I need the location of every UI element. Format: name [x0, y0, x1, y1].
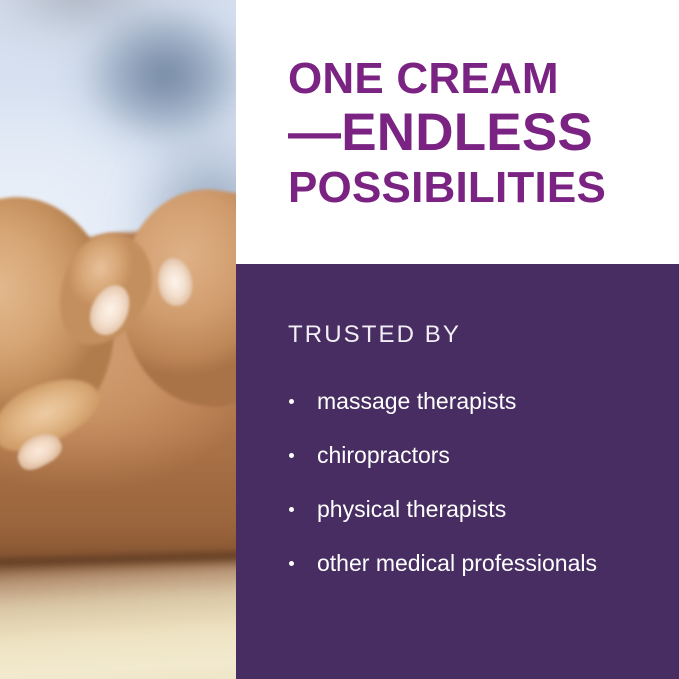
photo-stage: [0, 0, 236, 679]
list-item: chiropractors: [288, 428, 668, 482]
list-item: other medical professionals: [288, 536, 668, 590]
photo-towel: [0, 562, 236, 679]
list-item-label: physical therapists: [317, 496, 506, 523]
massage-photo: [0, 0, 236, 679]
headline: ONE CREAM —ENDLESS POSSIBILITIES: [288, 56, 668, 211]
list-item-label: chiropractors: [317, 442, 450, 469]
headline-line-3: POSSIBILITIES: [288, 165, 668, 211]
list-item: massage therapists: [288, 374, 668, 428]
bullet-icon: [289, 453, 294, 458]
headline-panel: ONE CREAM —ENDLESS POSSIBILITIES: [236, 0, 679, 264]
promo-card: ONE CREAM —ENDLESS POSSIBILITIES TRUSTED…: [0, 0, 679, 679]
bullet-icon: [289, 561, 294, 566]
bullet-icon: [289, 507, 294, 512]
bullet-icon: [289, 399, 294, 404]
headline-line-1: ONE CREAM: [288, 56, 668, 102]
trusted-by-title: TRUSTED BY: [288, 321, 461, 349]
list-item-label: other medical professionals: [317, 550, 597, 577]
list-item: physical therapists: [288, 482, 668, 536]
trusted-by-panel: TRUSTED BY massage therapists chiropract…: [236, 264, 679, 679]
trusted-by-list: massage therapists chiropractors physica…: [288, 374, 668, 590]
headline-line-2: —ENDLESS: [288, 105, 668, 160]
list-item-label: massage therapists: [317, 388, 516, 415]
